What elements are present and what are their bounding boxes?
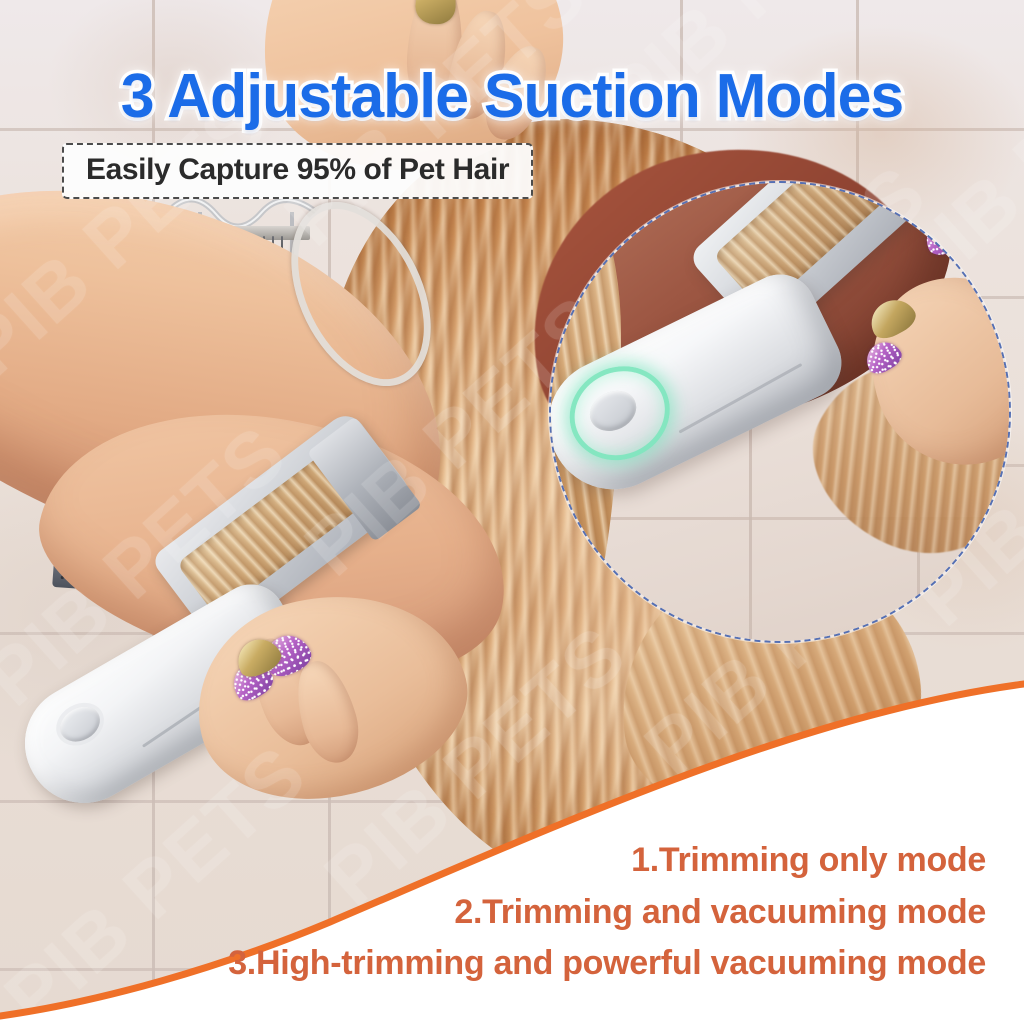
page-title: 3 Adjustable Suction Modes — [10, 66, 1014, 128]
modes-list: 1.Trimming only mode 2.Trimming and vacu… — [228, 835, 986, 990]
power-button-glow-ring-icon — [554, 350, 686, 477]
zoom-circle-inset — [549, 181, 1011, 643]
subtitle-badge: Easily Capture 95% of Pet Hair — [62, 143, 533, 199]
product-image-canvas: PIB PETS PIB PETS PIB PETS PIB PETS PIB … — [0, 0, 1024, 1024]
mode-item-2: 2.Trimming and vacuuming mode — [228, 887, 986, 939]
mode-item-1: 1.Trimming only mode — [228, 835, 986, 887]
clipper-power-button — [54, 700, 106, 749]
mode-item-3: 3.High-trimming and powerful vacuuming m… — [228, 938, 986, 990]
inset-clipper-seam — [678, 363, 802, 433]
